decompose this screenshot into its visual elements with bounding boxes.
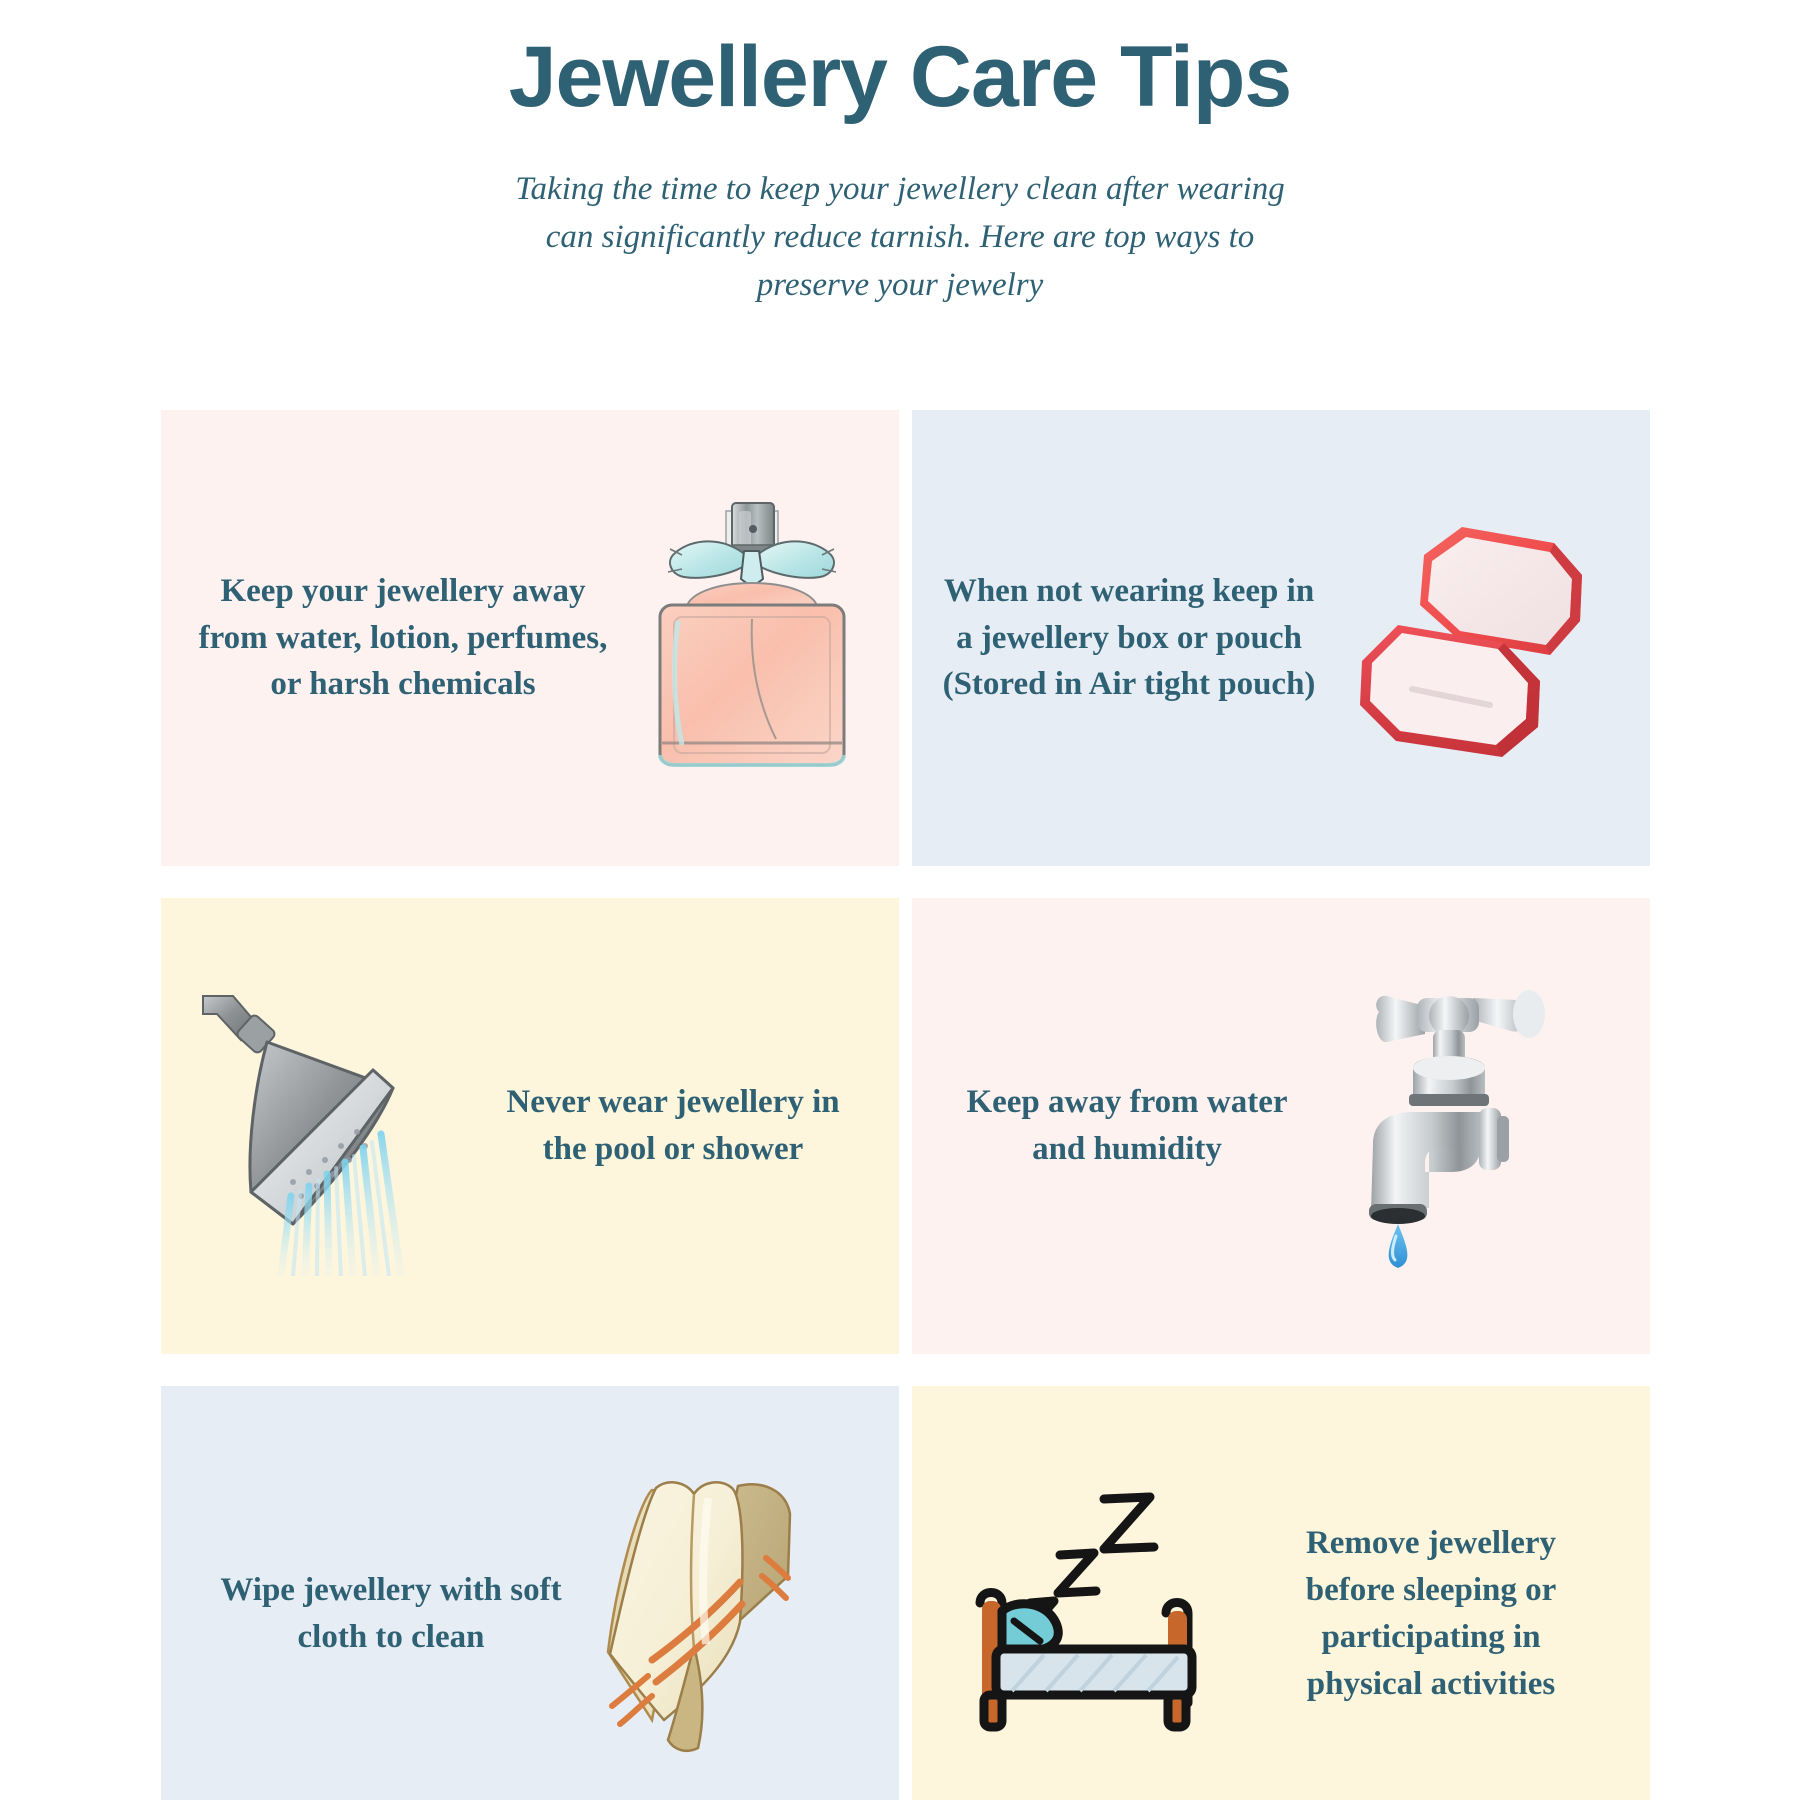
faucet-icon <box>1292 898 1610 1354</box>
handkerchief-icon <box>571 1386 859 1800</box>
tip-card-4-text: Keep away from water and humidity <box>962 1079 1292 1173</box>
infographic-page: Jewellery Care Tips Taking the time to k… <box>0 0 1800 1800</box>
ring-box-icon <box>1324 410 1644 866</box>
tips-grid: Keep your jewellery away from water, lot… <box>161 410 1639 1800</box>
page-title: Jewellery Care Tips <box>0 0 1800 122</box>
header: Jewellery Care Tips Taking the time to k… <box>0 0 1800 310</box>
tip-card-6: Remove jewellery before sleeping or part… <box>912 1386 1650 1800</box>
tip-card-3-text: Never wear jewellery in the pool or show… <box>493 1079 853 1173</box>
tip-card-6-text: Remove jewellery before sleeping or part… <box>1266 1520 1596 1707</box>
perfume-bottle-icon <box>613 410 889 866</box>
bed-sleeping-icon <box>932 1386 1266 1800</box>
page-subtitle: Taking the time to keep your jewellery c… <box>490 166 1310 310</box>
shower-head-icon <box>171 898 493 1354</box>
tip-card-5: Wipe jewellery with soft cloth to clean <box>161 1386 899 1800</box>
tip-card-1-text: Keep your jewellery away from water, lot… <box>193 568 613 709</box>
tip-card-2-text: When not wearing keep in a jewellery box… <box>934 568 1324 709</box>
tip-card-3: Never wear jewellery in the pool or show… <box>161 898 899 1354</box>
tip-card-1: Keep your jewellery away from water, lot… <box>161 410 899 866</box>
tip-card-5-text: Wipe jewellery with soft cloth to clean <box>211 1567 571 1661</box>
tip-card-4: Keep away from water and humidity <box>912 898 1650 1354</box>
tip-card-2: When not wearing keep in a jewellery box… <box>912 410 1650 866</box>
